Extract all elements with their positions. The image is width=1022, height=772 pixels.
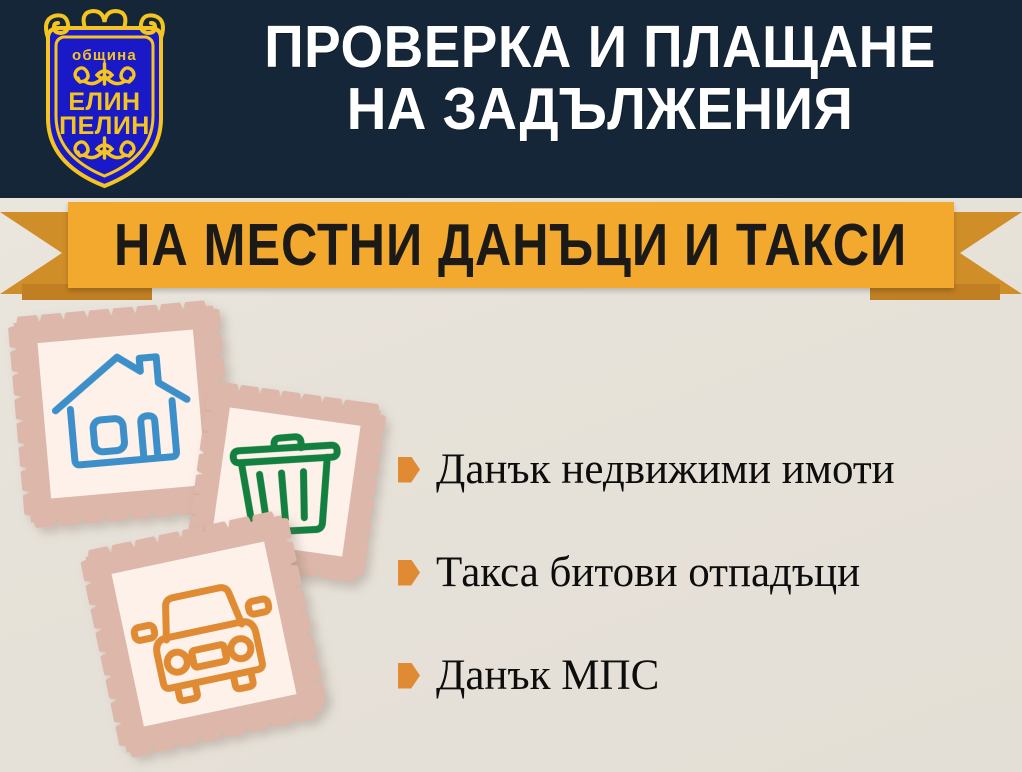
svg-text:община: община	[72, 47, 137, 64]
list-item[interactable]: Данък МПС	[398, 624, 1018, 727]
list-item-label: Такса битови отпадъци	[436, 550, 860, 596]
svg-text:ПЕЛИН: ПЕЛИН	[59, 112, 150, 140]
ribbon-band: НА МЕСТНИ ДАНЪЦИ И ТАКСИ	[68, 202, 954, 288]
arrow-bullet-icon	[398, 457, 420, 483]
arrow-bullet-icon	[398, 663, 420, 689]
tax-types-list: Данък недвижими имоти Такса битови отпад…	[398, 418, 1018, 727]
stamp-card-group	[0, 300, 420, 772]
subtitle-ribbon: НА МЕСТНИ ДАНЪЦИ И ТАКСИ	[0, 200, 1022, 310]
coat-of-arms-icon: община ЕЛИН ПЕЛИН	[22, 6, 187, 192]
arrow-bullet-icon	[398, 560, 420, 586]
ribbon-label: НА МЕСТНИ ДАНЪЦИ И ТАКСИ	[114, 215, 907, 274]
municipality-logo: община ЕЛИН ПЕЛИН	[22, 6, 187, 192]
header-banner: община ЕЛИН ПЕЛИН ПРОВЕРКА И ПЛАЩАНЕ НА …	[0, 0, 1022, 198]
page-title-line-1: ПРОВЕРКА И ПЛАЩАНЕ	[219, 16, 982, 78]
list-item[interactable]: Такса битови отпадъци	[398, 521, 1018, 624]
list-item-label: Данък недвижими имоти	[436, 447, 895, 493]
page-title: ПРОВЕРКА И ПЛАЩАНЕ НА ЗАДЪЛЖЕНИЯ	[219, 16, 982, 140]
stamp-card-vehicle-tax	[78, 508, 329, 759]
list-item[interactable]: Данък недвижими имоти	[398, 418, 1018, 521]
list-item-label: Данък МПС	[436, 653, 659, 699]
page-title-line-2: НА ЗАДЪЛЖЕНИЯ	[219, 78, 982, 140]
